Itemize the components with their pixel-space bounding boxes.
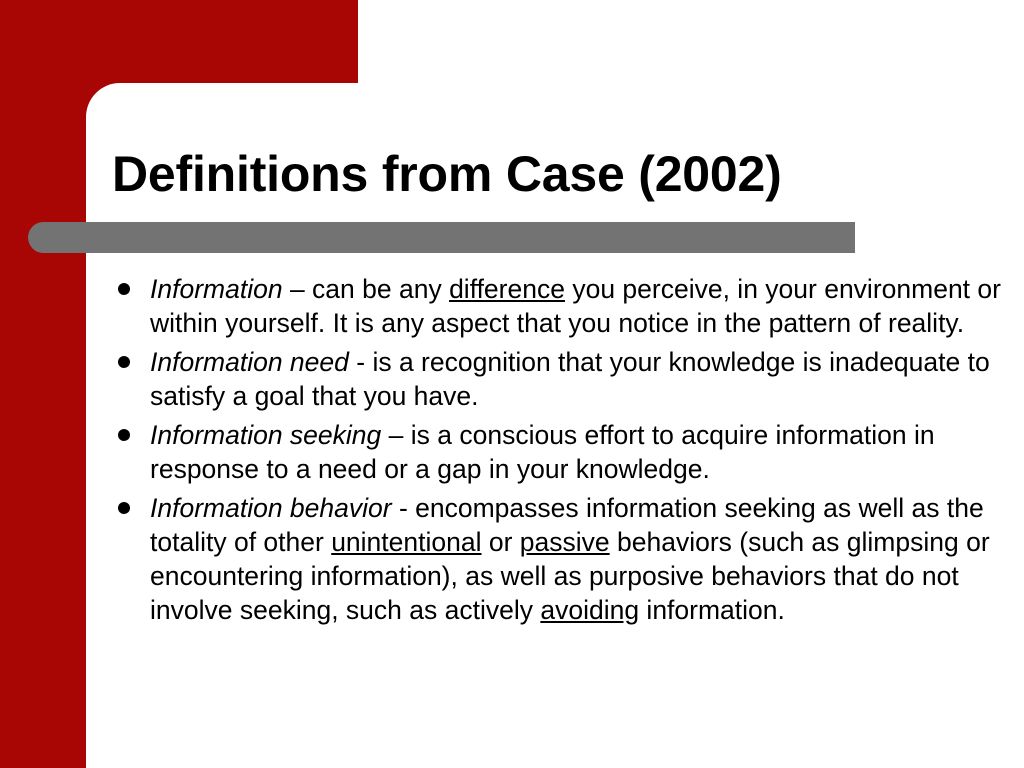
- list-item: Information seeking – is a conscious eff…: [114, 418, 1004, 486]
- definition-separator: – can be any: [283, 274, 449, 304]
- title-underline-bar: [28, 222, 855, 253]
- definition-body: or: [481, 527, 519, 557]
- list-item-text: Information seeking – is a conscious eff…: [150, 418, 1004, 486]
- bullet-dot-icon: [118, 502, 130, 514]
- definition-term: Information: [150, 274, 283, 304]
- emphasis-underlined-word: difference: [449, 274, 565, 304]
- list-item: Information behavior - encompasses infor…: [114, 491, 1004, 627]
- list-item: Information – can be any difference you …: [114, 272, 1004, 340]
- page-title: Definitions from Case (2002): [112, 146, 992, 202]
- emphasis-underlined-word: passive: [520, 527, 610, 557]
- emphasis-underlined-word: avoiding: [540, 595, 639, 625]
- emphasis-underlined-word: unintentional: [331, 527, 481, 557]
- slide-canvas: Definitions from Case (2002) Information…: [0, 0, 1024, 768]
- bullet-dot-icon: [118, 283, 130, 295]
- list-item-text: Information need - is a recognition that…: [150, 345, 1004, 413]
- list-item: Information need - is a recognition that…: [114, 345, 1004, 413]
- definition-term: Information behavior: [150, 493, 399, 523]
- definition-body: information.: [639, 595, 785, 625]
- definition-term: Information seeking: [150, 420, 381, 450]
- definition-term: Information need: [150, 347, 349, 377]
- list-item-text: Information behavior - encompasses infor…: [150, 491, 1004, 627]
- definitions-list: Information – can be any difference you …: [114, 272, 1004, 632]
- list-item-text: Information – can be any difference you …: [150, 272, 1004, 340]
- bullet-dot-icon: [118, 429, 130, 441]
- bullet-dot-icon: [118, 356, 130, 368]
